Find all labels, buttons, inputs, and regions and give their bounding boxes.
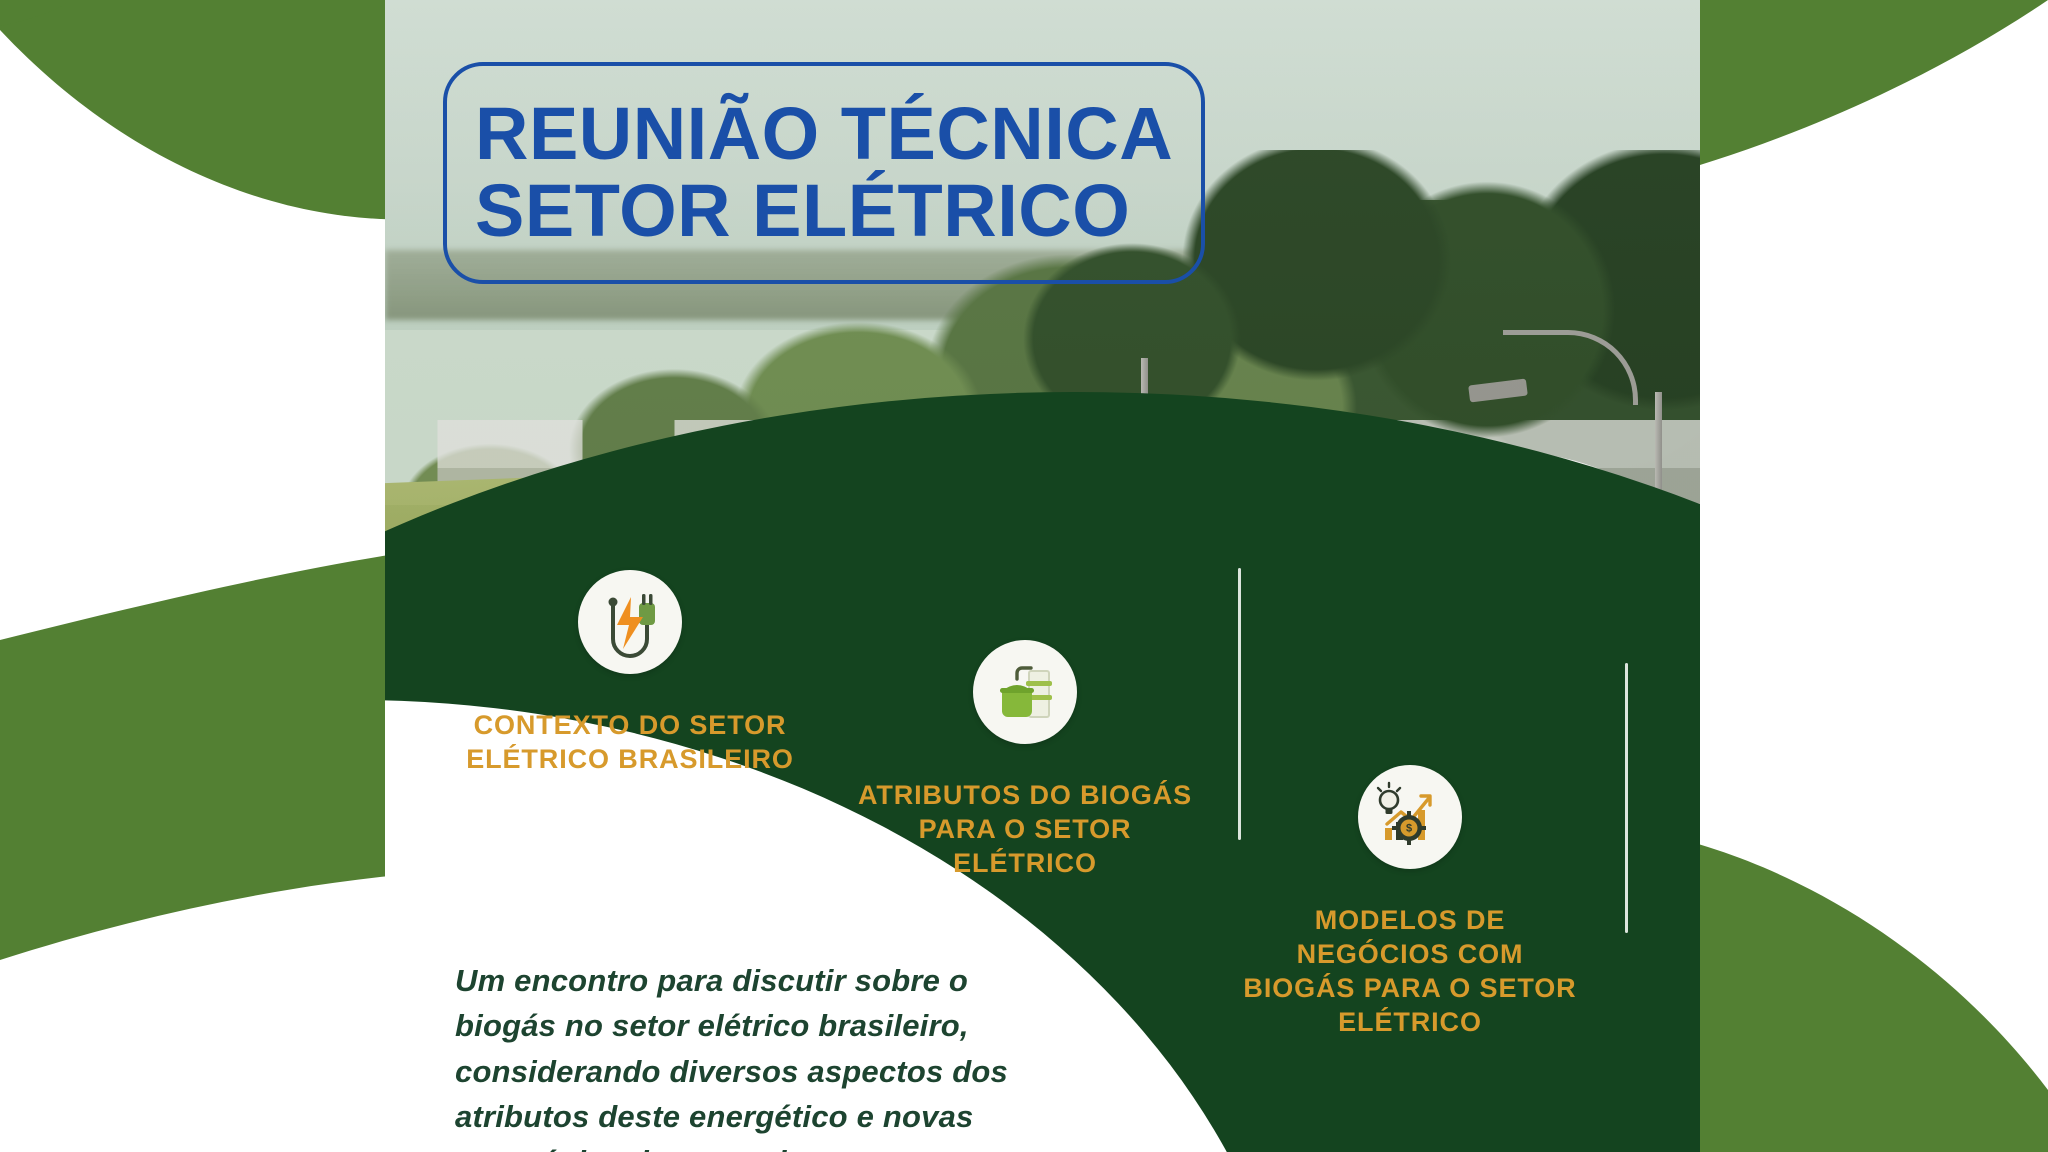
electric-plug-bolt-icon <box>578 570 682 674</box>
topic-label: CONTEXTO DO SETOR ELÉTRICO BRASILEIRO <box>460 708 800 776</box>
biodigester-tank-icon <box>973 640 1077 744</box>
title-line-1: REUNIÃO TÉCNICA <box>475 96 1173 173</box>
description-text: Um encontro para discutir sobre o biogás… <box>455 958 1055 1152</box>
page-title: REUNIÃO TÉCNICA SETOR ELÉTRICO <box>443 62 1205 284</box>
topic-label: MODELOS DE NEGÓCIOS COM BIOGÁS PARA O SE… <box>1240 903 1580 1039</box>
topic-item-modelos[interactable]: $ MODELOS DE NEGÓCIOS COM BIOGÁS PARA O … <box>1240 765 1580 1039</box>
band-right-bottom <box>1640 830 2048 1152</box>
topic-item-atributos[interactable]: ATRIBUTOS DO BIOGÁS PARA O SETOR ELÉTRIC… <box>850 640 1200 880</box>
topic-item-contexto[interactable]: CONTEXTO DO SETOR ELÉTRICO BRASILEIRO <box>460 570 800 776</box>
lightbulb-growth-chart-gear-icon: $ <box>1358 765 1462 869</box>
column-divider-2 <box>1625 663 1628 933</box>
description-paragraph: Um encontro para discutir sobre o biogás… <box>455 958 1055 1152</box>
topic-label: ATRIBUTOS DO BIOGÁS PARA O SETOR ELÉTRIC… <box>850 778 1200 880</box>
poster-canvas: REUNIÃO TÉCNICA SETOR ELÉTRICO CONTEXTO … <box>0 0 2048 1152</box>
title-line-2: SETOR ELÉTRICO <box>475 173 1173 250</box>
svg-text:$: $ <box>1406 823 1412 835</box>
